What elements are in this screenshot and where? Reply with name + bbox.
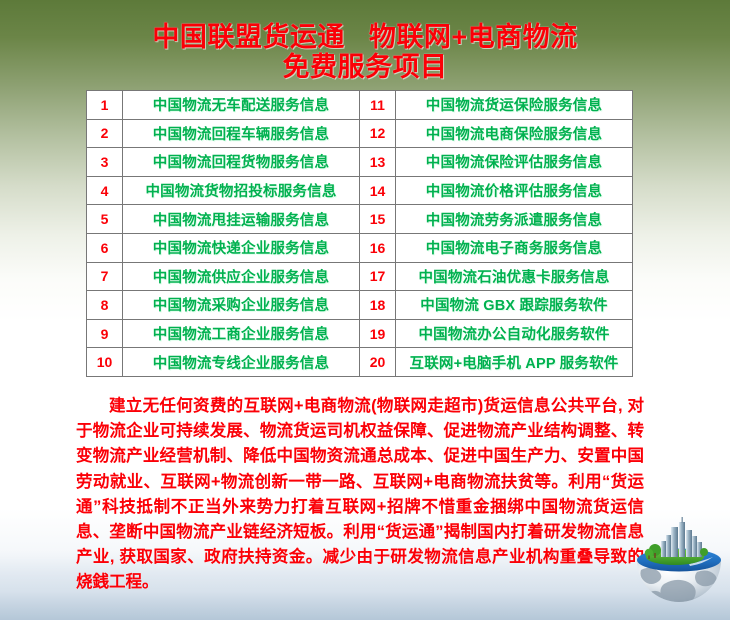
row-number: 17 [360,262,396,291]
row-label: 中国物流电子商务服务信息 [396,233,633,262]
row-label: 互联网+电脑手机 APP 服务软件 [396,348,633,377]
title-line-2: 免费服务项目 [0,52,730,82]
service-items-table: 1 中国物流无车配送服务信息 11 中国物流货运保险服务信息 2 中国物流回程车… [86,90,633,377]
table-row: 4 中国物流货物招投标服务信息 14 中国物流价格评估服务信息 [87,176,633,205]
table-row: 3 中国物流回程货物服务信息 13 中国物流保险评估服务信息 [87,148,633,177]
table-row: 10 中国物流专线企业服务信息 20 互联网+电脑手机 APP 服务软件 [87,348,633,377]
row-number: 2 [87,119,123,148]
row-label: 中国物流供应企业服务信息 [123,262,360,291]
row-label: 中国物流甩挂运输服务信息 [123,205,360,234]
table-row: 8 中国物流采购企业服务信息 18 中国物流 GBX 跟踪服务软件 [87,291,633,320]
row-label: 中国物流快递企业服务信息 [123,233,360,262]
row-number: 19 [360,319,396,348]
row-number: 14 [360,176,396,205]
row-number: 6 [87,233,123,262]
row-number: 11 [360,91,396,120]
table-row: 1 中国物流无车配送服务信息 11 中国物流货运保险服务信息 [87,91,633,120]
row-label: 中国物流办公自动化服务软件 [396,319,633,348]
table-row: 6 中国物流快递企业服务信息 16 中国物流电子商务服务信息 [87,233,633,262]
row-number: 20 [360,348,396,377]
row-number: 9 [87,319,123,348]
row-label: 中国物流无车配送服务信息 [123,91,360,120]
row-number: 4 [87,176,123,205]
row-label: 中国物流电商保险服务信息 [396,119,633,148]
row-number: 16 [360,233,396,262]
slide-title: 中国联盟货运通 物联网+电商物流 免费服务项目 [0,22,730,82]
row-label: 中国物流货物招投标服务信息 [123,176,360,205]
service-items-body: 1 中国物流无车配送服务信息 11 中国物流货运保险服务信息 2 中国物流回程车… [87,91,633,377]
row-label: 中国物流回程车辆服务信息 [123,119,360,148]
row-number: 1 [87,91,123,120]
table-row: 5 中国物流甩挂运输服务信息 15 中国物流劳务派遣服务信息 [87,205,633,234]
row-label: 中国物流工商企业服务信息 [123,319,360,348]
row-label: 中国物流 GBX 跟踪服务软件 [396,291,633,320]
row-label: 中国物流保险评估服务信息 [396,148,633,177]
table-row: 2 中国物流回程车辆服务信息 12 中国物流电商保险服务信息 [87,119,633,148]
row-number: 12 [360,119,396,148]
row-label: 中国物流货运保险服务信息 [396,91,633,120]
row-number: 15 [360,205,396,234]
description-paragraph: 建立无任何资费的互联网+电商物流(物联网走超市)货运信息公共平台, 对于物流企业… [76,394,644,596]
row-label: 中国物流采购企业服务信息 [123,291,360,320]
row-number: 5 [87,205,123,234]
earth-city-globe-icon [631,514,727,618]
row-label: 中国物流回程货物服务信息 [123,148,360,177]
title-line-1: 中国联盟货运通 物联网+电商物流 [0,22,730,52]
row-number: 18 [360,291,396,320]
table-row: 9 中国物流工商企业服务信息 19 中国物流办公自动化服务软件 [87,319,633,348]
row-label: 中国物流石油优惠卡服务信息 [396,262,633,291]
row-number: 3 [87,148,123,177]
row-number: 13 [360,148,396,177]
row-number: 7 [87,262,123,291]
row-number: 8 [87,291,123,320]
row-number: 10 [87,348,123,377]
row-label: 中国物流劳务派遣服务信息 [396,205,633,234]
city-skyline [661,517,702,557]
row-label: 中国物流价格评估服务信息 [396,176,633,205]
table-row: 7 中国物流供应企业服务信息 17 中国物流石油优惠卡服务信息 [87,262,633,291]
slide-canvas: 中国联盟货运通 物联网+电商物流 免费服务项目 1 中国物流无车配送服务信息 1… [0,0,730,620]
row-label: 中国物流专线企业服务信息 [123,348,360,377]
